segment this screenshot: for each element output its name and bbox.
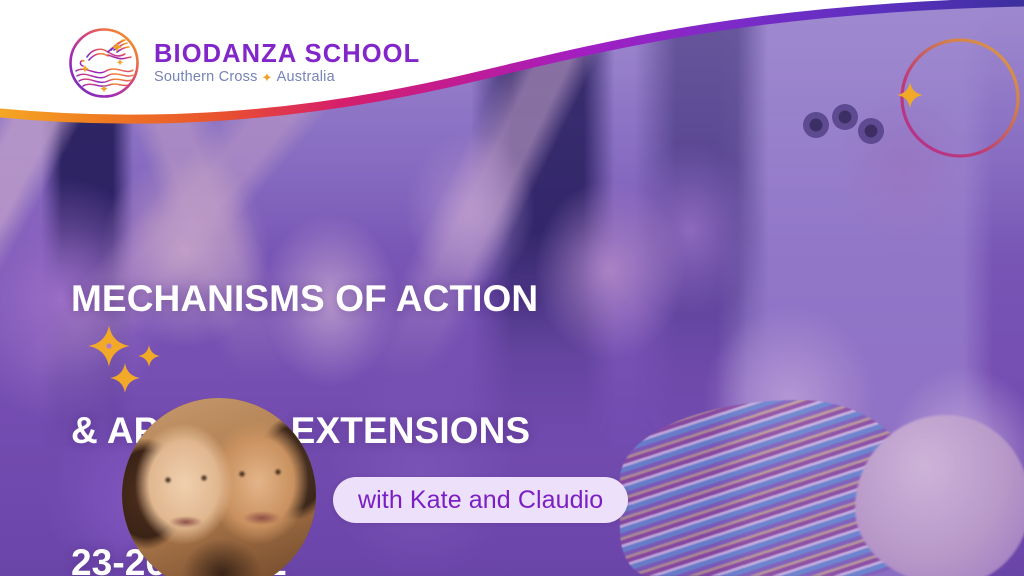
sparkle-icon xyxy=(88,325,130,367)
event-banner: BIODANZA SCHOOL Southern Cross ✦ Austral… xyxy=(0,0,1024,576)
sparkle-icon xyxy=(110,363,140,393)
brand-logo[interactable]: BIODANZA SCHOOL Southern Cross ✦ Austral… xyxy=(68,27,420,99)
headline-line-1: MECHANISMS OF ACTION xyxy=(71,277,538,321)
brand-subtitle-right: Australia xyxy=(277,70,335,85)
presenters-caption: with Kate and Claudio xyxy=(333,477,628,523)
portrait-photo xyxy=(122,398,316,576)
presenters-caption-label: with Kate and Claudio xyxy=(358,486,603,515)
brand-subtitle-left: Southern Cross xyxy=(154,70,258,85)
sparkle-icon xyxy=(897,82,923,108)
brand-subtitle: Southern Cross ✦ Australia xyxy=(154,70,420,85)
orange-diamond-icon: ✦ xyxy=(262,71,273,84)
brand-text: BIODANZA SCHOOL Southern Cross ✦ Austral… xyxy=(154,42,420,85)
avatar xyxy=(122,398,316,576)
bird-over-waves-circle-logo-icon xyxy=(68,27,140,99)
brand-title: BIODANZA SCHOOL xyxy=(154,42,420,68)
sparkle-icon xyxy=(138,345,160,367)
